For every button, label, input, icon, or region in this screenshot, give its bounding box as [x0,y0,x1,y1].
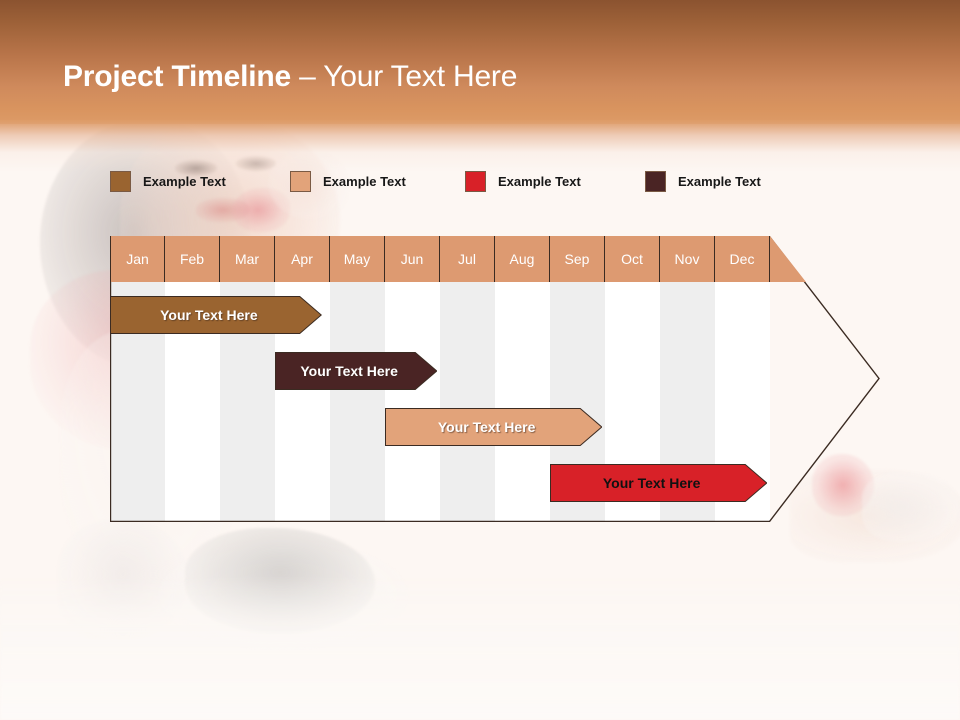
timeline-bar[interactable]: Your Text Here [550,464,767,502]
timeline-bar-polygon [386,409,602,446]
month-header-row: JanFebMarAprMayJunJulAugSepOctNovDec [110,236,880,282]
month-header-cell[interactable]: Jul [440,236,495,282]
legend-item[interactable]: Example Text [290,169,406,193]
month-header-cell[interactable]: Dec [715,236,770,282]
timeline-bar-shape [110,296,322,334]
month-header-cell[interactable]: Oct [605,236,660,282]
legend-label: Example Text [323,174,406,189]
timeline-bar[interactable]: Your Text Here [110,296,322,334]
legend-swatch [110,171,131,192]
legend-swatch [290,171,311,192]
legend-swatch [645,171,666,192]
timeline-bar-polygon [111,297,322,334]
month-header-cell[interactable]: Jan [110,236,165,282]
page-title-rest: – Your Text Here [291,60,517,93]
month-header-cell[interactable]: Aug [495,236,550,282]
month-header-cell[interactable]: Apr [275,236,330,282]
timeline-chart: JanFebMarAprMayJunJulAugSepOctNovDec You… [110,236,880,522]
month-header-cell[interactable]: Feb [165,236,220,282]
title-banner-fade [0,120,960,172]
legend-label: Example Text [143,174,226,189]
month-header-cell[interactable]: Jun [385,236,440,282]
month-header-cell[interactable]: May [330,236,385,282]
month-header-cell[interactable]: Sep [550,236,605,282]
legend-label: Example Text [678,174,761,189]
timeline-bar-shape [550,464,767,502]
slide-canvas: Project Timeline – Your Text Here Exampl… [0,0,960,720]
month-header-wedge-shape [770,236,806,282]
timeline-bar[interactable]: Your Text Here [275,352,437,390]
legend-item[interactable]: Example Text [465,169,581,193]
timeline-bar-polygon [276,353,437,390]
legend-item[interactable]: Example Text [110,169,226,193]
timeline-bar[interactable]: Your Text Here [385,408,602,446]
page-title-strong: Project Timeline [63,60,291,93]
timeline-bar-shape [385,408,602,446]
legend: Example TextExample TextExample TextExam… [110,169,800,193]
month-header-cell[interactable]: Mar [220,236,275,282]
month-header-arrow-wedge [770,236,880,282]
timeline-bar-shape [275,352,437,390]
legend-label: Example Text [498,174,581,189]
page-title: Project Timeline – Your Text Here [63,60,517,94]
month-header-cell[interactable]: Nov [660,236,715,282]
legend-swatch [465,171,486,192]
photo-table-surface [0,575,960,720]
legend-item[interactable]: Example Text [645,169,761,193]
timeline-bar-polygon [551,465,767,502]
